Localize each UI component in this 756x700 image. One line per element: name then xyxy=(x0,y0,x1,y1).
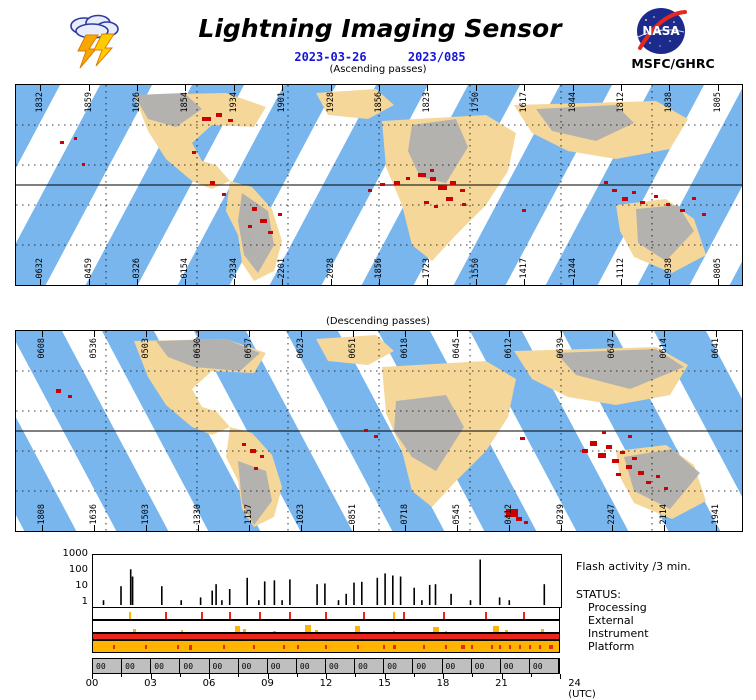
map-tick-label: 2201 xyxy=(277,258,287,278)
flash-bar xyxy=(200,597,202,605)
map-tick-label: 1723 xyxy=(422,258,432,278)
orbit-cell[interactable]: 00 xyxy=(180,659,209,673)
map-tick-label: 0545 xyxy=(452,504,462,524)
map-tick-label: 1626 xyxy=(132,92,142,112)
observation-date: 2023-03-26 xyxy=(294,50,366,64)
orbit-cell[interactable]: 00 xyxy=(297,659,326,673)
map-tick-mark xyxy=(185,85,186,91)
map-tick-mark xyxy=(457,525,458,531)
map-tick-label: 0641 xyxy=(711,338,721,358)
y-tick-1000: 1000 xyxy=(63,548,88,559)
flash-bar xyxy=(429,585,431,605)
map-tick-label: 1157 xyxy=(244,504,254,524)
time-minor-tick xyxy=(355,674,356,677)
map-tick-label: 1636 xyxy=(89,504,99,524)
map-tick-mark xyxy=(198,525,199,531)
map-tick-label: 0459 xyxy=(84,258,94,278)
legend-instrument: Instrument xyxy=(588,627,649,640)
descending-map-canvas xyxy=(16,331,742,531)
map-tick-label: 1941 xyxy=(711,504,721,524)
map-tick-mark xyxy=(561,331,562,337)
map-tick-label: 1934 xyxy=(229,92,239,112)
orbit-cell[interactable]: 00 xyxy=(530,659,559,673)
flash-bar xyxy=(103,600,105,605)
map-tick-mark xyxy=(185,279,186,285)
map-tick-mark xyxy=(353,525,354,531)
date-line: 2023-03-26 2023/085 xyxy=(190,50,570,64)
map-tick-mark xyxy=(621,85,622,91)
flash-bar xyxy=(384,573,386,605)
flash-bar xyxy=(509,600,511,605)
flash-bar xyxy=(353,583,355,605)
page-header: Lightning Imaging Sensor 2023-03-26 2023… xyxy=(0,0,756,78)
orbit-bar[interactable]: 00000000000000000000000000000000 xyxy=(92,658,560,674)
legend-platform: Platform xyxy=(588,640,634,653)
map-tick-mark xyxy=(716,331,717,337)
flash-bar xyxy=(281,600,283,605)
map-tick-mark xyxy=(612,331,613,337)
map-tick-label: 0639 xyxy=(556,338,566,358)
map-tick-mark xyxy=(573,85,574,91)
orbit-cell[interactable]: 00 xyxy=(210,659,239,673)
map-tick-mark xyxy=(405,331,406,337)
orbit-cell[interactable]: 00 xyxy=(151,659,180,673)
map-tick-mark xyxy=(94,331,95,337)
time-minor-tick xyxy=(414,674,415,677)
map-tick-label: 1805 xyxy=(713,92,723,112)
descending-pass-map[interactable]: 0608053605030630065706230651061806450612… xyxy=(15,330,743,532)
map-tick-mark xyxy=(301,331,302,337)
map-tick-mark xyxy=(718,85,719,91)
map-tick-mark xyxy=(379,85,380,91)
map-tick-label: 0612 xyxy=(504,338,514,358)
map-tick-label: 0805 xyxy=(713,258,723,278)
flash-bar xyxy=(120,586,122,605)
map-tick-label: 0632 xyxy=(35,258,45,278)
map-tick-label: 1244 xyxy=(568,258,578,278)
flash-bar xyxy=(324,584,326,606)
orbit-cell[interactable]: 00 xyxy=(355,659,384,673)
flash-bar xyxy=(211,591,213,605)
time-minor-tick xyxy=(531,674,532,677)
map-tick-label: 0647 xyxy=(607,338,617,358)
time-minor-tick xyxy=(180,674,181,677)
map-tick-mark xyxy=(476,279,477,285)
map-tick-mark xyxy=(146,525,147,531)
page-title: Lightning Imaging Sensor xyxy=(190,14,570,43)
map-tick-mark xyxy=(249,525,250,531)
status-row-instrument[interactable] xyxy=(92,633,560,640)
map-tick-mark xyxy=(137,85,138,91)
map-tick-label: 1808 xyxy=(37,504,47,524)
orbit-cell[interactable]: 00 xyxy=(326,659,355,673)
map-tick-label: 1856 xyxy=(374,92,384,112)
map-tick-label: 0938 xyxy=(664,258,674,278)
y-tick-10: 10 xyxy=(75,580,88,591)
map-tick-label: 2114 xyxy=(659,504,669,524)
status-row-processing[interactable] xyxy=(92,607,560,620)
flash-bar xyxy=(229,589,231,605)
map-tick-mark xyxy=(621,279,622,285)
orbit-cell[interactable]: 00 xyxy=(443,659,472,673)
orbit-cell[interactable]: 00 xyxy=(472,659,501,673)
map-tick-label: 0154 xyxy=(180,258,190,278)
flash-plot-y-axis: 1000 100 10 1 xyxy=(40,548,88,612)
map-tick-mark xyxy=(476,85,477,91)
map-tick-label: 1901 xyxy=(277,92,287,112)
flash-bar xyxy=(361,582,363,605)
map-tick-mark xyxy=(524,279,525,285)
legend-external: External xyxy=(588,614,634,627)
orbit-cell[interactable]: 00 xyxy=(413,659,442,673)
flash-bar xyxy=(499,597,501,605)
map-tick-mark xyxy=(331,85,332,91)
map-tick-label: 0851 xyxy=(348,504,358,524)
map-tick-mark xyxy=(89,85,90,91)
flash-bar xyxy=(316,584,318,605)
flash-bar xyxy=(544,584,546,605)
flash-bar xyxy=(264,581,266,605)
map-tick-label: 1823 xyxy=(422,92,432,112)
map-tick-mark xyxy=(94,525,95,531)
map-tick-mark xyxy=(137,279,138,285)
flash-activity-bars xyxy=(93,555,559,605)
map-tick-mark xyxy=(716,525,717,531)
ascending-map-canvas xyxy=(16,85,742,285)
time-axis: 000306091215182124 (UTC) xyxy=(92,674,560,692)
flash-bar xyxy=(274,580,276,605)
map-tick-mark xyxy=(40,279,41,285)
orbit-cell[interactable]: 00 xyxy=(501,659,530,673)
flash-bar xyxy=(132,577,134,606)
map-tick-mark xyxy=(573,279,574,285)
thunderstorm-icon xyxy=(62,8,128,70)
flash-bar xyxy=(470,600,472,605)
orbit-cell[interactable]: 00 xyxy=(122,659,151,673)
ascending-caption: (Ascending passes) xyxy=(0,64,756,75)
map-tick-label: 0412 xyxy=(504,504,514,524)
map-tick-mark xyxy=(561,525,562,531)
day-of-year: 2023/085 xyxy=(408,50,466,64)
time-minor-tick xyxy=(238,674,239,677)
map-tick-mark xyxy=(612,525,613,531)
flash-bar xyxy=(221,600,223,605)
map-tick-mark xyxy=(509,331,510,337)
orbit-cell[interactable]: 00 xyxy=(384,659,413,673)
legend-status-heading: STATUS: xyxy=(576,588,621,601)
map-tick-label: 1330 xyxy=(193,504,203,524)
flash-bar xyxy=(258,600,260,605)
map-tick-mark xyxy=(249,331,250,337)
flash-bar xyxy=(246,578,248,605)
orbit-cell[interactable]: 00 xyxy=(239,659,268,673)
map-tick-mark xyxy=(198,331,199,337)
map-tick-mark xyxy=(524,85,525,91)
map-tick-mark xyxy=(282,279,283,285)
map-tick-mark xyxy=(669,279,670,285)
activity-panel: 1000 100 10 1 xyxy=(0,540,756,680)
map-tick-label: 1844 xyxy=(568,92,578,112)
status-row-external[interactable] xyxy=(92,620,560,633)
processing-marks xyxy=(93,612,559,620)
map-tick-label: 0651 xyxy=(348,338,358,358)
flash-bar xyxy=(289,579,291,605)
map-tick-label: 1023 xyxy=(296,504,306,524)
map-tick-label: 1550 xyxy=(471,258,481,278)
map-tick-label: 2334 xyxy=(229,258,239,278)
map-tick-label: 1856 xyxy=(374,258,384,278)
map-tick-mark xyxy=(509,525,510,531)
platform-marks xyxy=(93,645,559,653)
time-minor-tick xyxy=(472,674,473,677)
map-tick-label: 0326 xyxy=(132,258,142,278)
flash-bar xyxy=(413,588,415,605)
map-tick-label: 0657 xyxy=(244,338,254,358)
flash-bar xyxy=(161,586,163,605)
map-tick-mark xyxy=(718,279,719,285)
orbit-cell[interactable]: 00 xyxy=(268,659,297,673)
flash-bar xyxy=(479,560,481,606)
map-tick-mark xyxy=(89,279,90,285)
map-tick-mark xyxy=(331,279,332,285)
map-tick-mark xyxy=(427,85,428,91)
map-tick-label: 0503 xyxy=(141,338,151,358)
flash-bar xyxy=(421,600,423,605)
map-tick-label: 0239 xyxy=(556,504,566,524)
map-tick-label: 1112 xyxy=(616,258,626,278)
map-tick-label: 0718 xyxy=(400,504,410,524)
time-minor-tick xyxy=(121,674,122,677)
map-tick-mark xyxy=(664,525,665,531)
map-tick-label: 0623 xyxy=(296,338,306,358)
map-tick-mark xyxy=(379,279,380,285)
flash-bar xyxy=(392,576,394,606)
legend-flash-activity: Flash activity /3 min. xyxy=(576,560,691,573)
flash-bar xyxy=(435,584,437,605)
map-tick-label: 1854 xyxy=(180,92,190,112)
legend-processing: Processing xyxy=(588,601,647,614)
flash-bar xyxy=(338,600,340,605)
external-marks xyxy=(93,625,559,633)
flash-bar xyxy=(450,594,452,605)
flash-bar xyxy=(377,578,379,605)
map-tick-mark xyxy=(282,85,283,91)
map-tick-label: 2247 xyxy=(607,504,617,524)
nasa-logo-icon: NASA xyxy=(630,6,692,56)
map-tick-mark xyxy=(42,331,43,337)
flash-bar xyxy=(130,569,132,605)
map-tick-label: 1750 xyxy=(471,92,481,112)
orbit-cell[interactable]: 00 xyxy=(93,659,122,673)
map-tick-label: 1503 xyxy=(141,504,151,524)
map-tick-label: 0630 xyxy=(193,338,203,358)
flash-bar xyxy=(215,584,217,605)
map-tick-mark xyxy=(146,331,147,337)
flash-bar xyxy=(345,594,347,605)
map-tick-label: 0645 xyxy=(452,338,462,358)
map-tick-mark xyxy=(427,279,428,285)
y-tick-100: 100 xyxy=(69,564,88,575)
time-tick-label: 24 (UTC) xyxy=(568,678,596,700)
map-tick-mark xyxy=(234,85,235,91)
map-tick-mark xyxy=(301,525,302,531)
flash-bar xyxy=(180,600,182,605)
svg-text:NASA: NASA xyxy=(642,24,680,38)
map-tick-mark xyxy=(664,331,665,337)
map-tick-label: 1417 xyxy=(519,258,529,278)
map-tick-mark xyxy=(40,85,41,91)
map-tick-label: 2028 xyxy=(326,258,336,278)
map-tick-label: 1838 xyxy=(664,92,674,112)
map-tick-label: 1617 xyxy=(519,92,529,112)
map-tick-mark xyxy=(353,331,354,337)
map-tick-label: 0608 xyxy=(37,338,47,358)
map-tick-label: 1812 xyxy=(616,92,626,112)
map-tick-label: 0614 xyxy=(659,338,669,358)
map-tick-mark xyxy=(669,85,670,91)
time-minor-tick xyxy=(297,674,298,677)
map-tick-label: 1859 xyxy=(84,92,94,112)
y-tick-1: 1 xyxy=(82,596,88,607)
map-tick-mark xyxy=(457,331,458,337)
status-row-platform[interactable] xyxy=(92,640,560,653)
map-tick-label: 0618 xyxy=(400,338,410,358)
descending-caption: (Descending passes) xyxy=(0,316,756,327)
map-tick-mark xyxy=(405,525,406,531)
map-tick-label: 0536 xyxy=(89,338,99,358)
map-tick-mark xyxy=(234,279,235,285)
time-tick xyxy=(560,674,561,679)
flash-activity-plot[interactable] xyxy=(92,554,562,608)
map-tick-label: 1832 xyxy=(35,92,45,112)
map-tick-label: 1928 xyxy=(326,92,336,112)
flash-bar xyxy=(400,577,402,606)
map-tick-mark xyxy=(42,525,43,531)
ascending-pass-map[interactable]: 1832185916261854193419011928185618231750… xyxy=(15,84,743,286)
